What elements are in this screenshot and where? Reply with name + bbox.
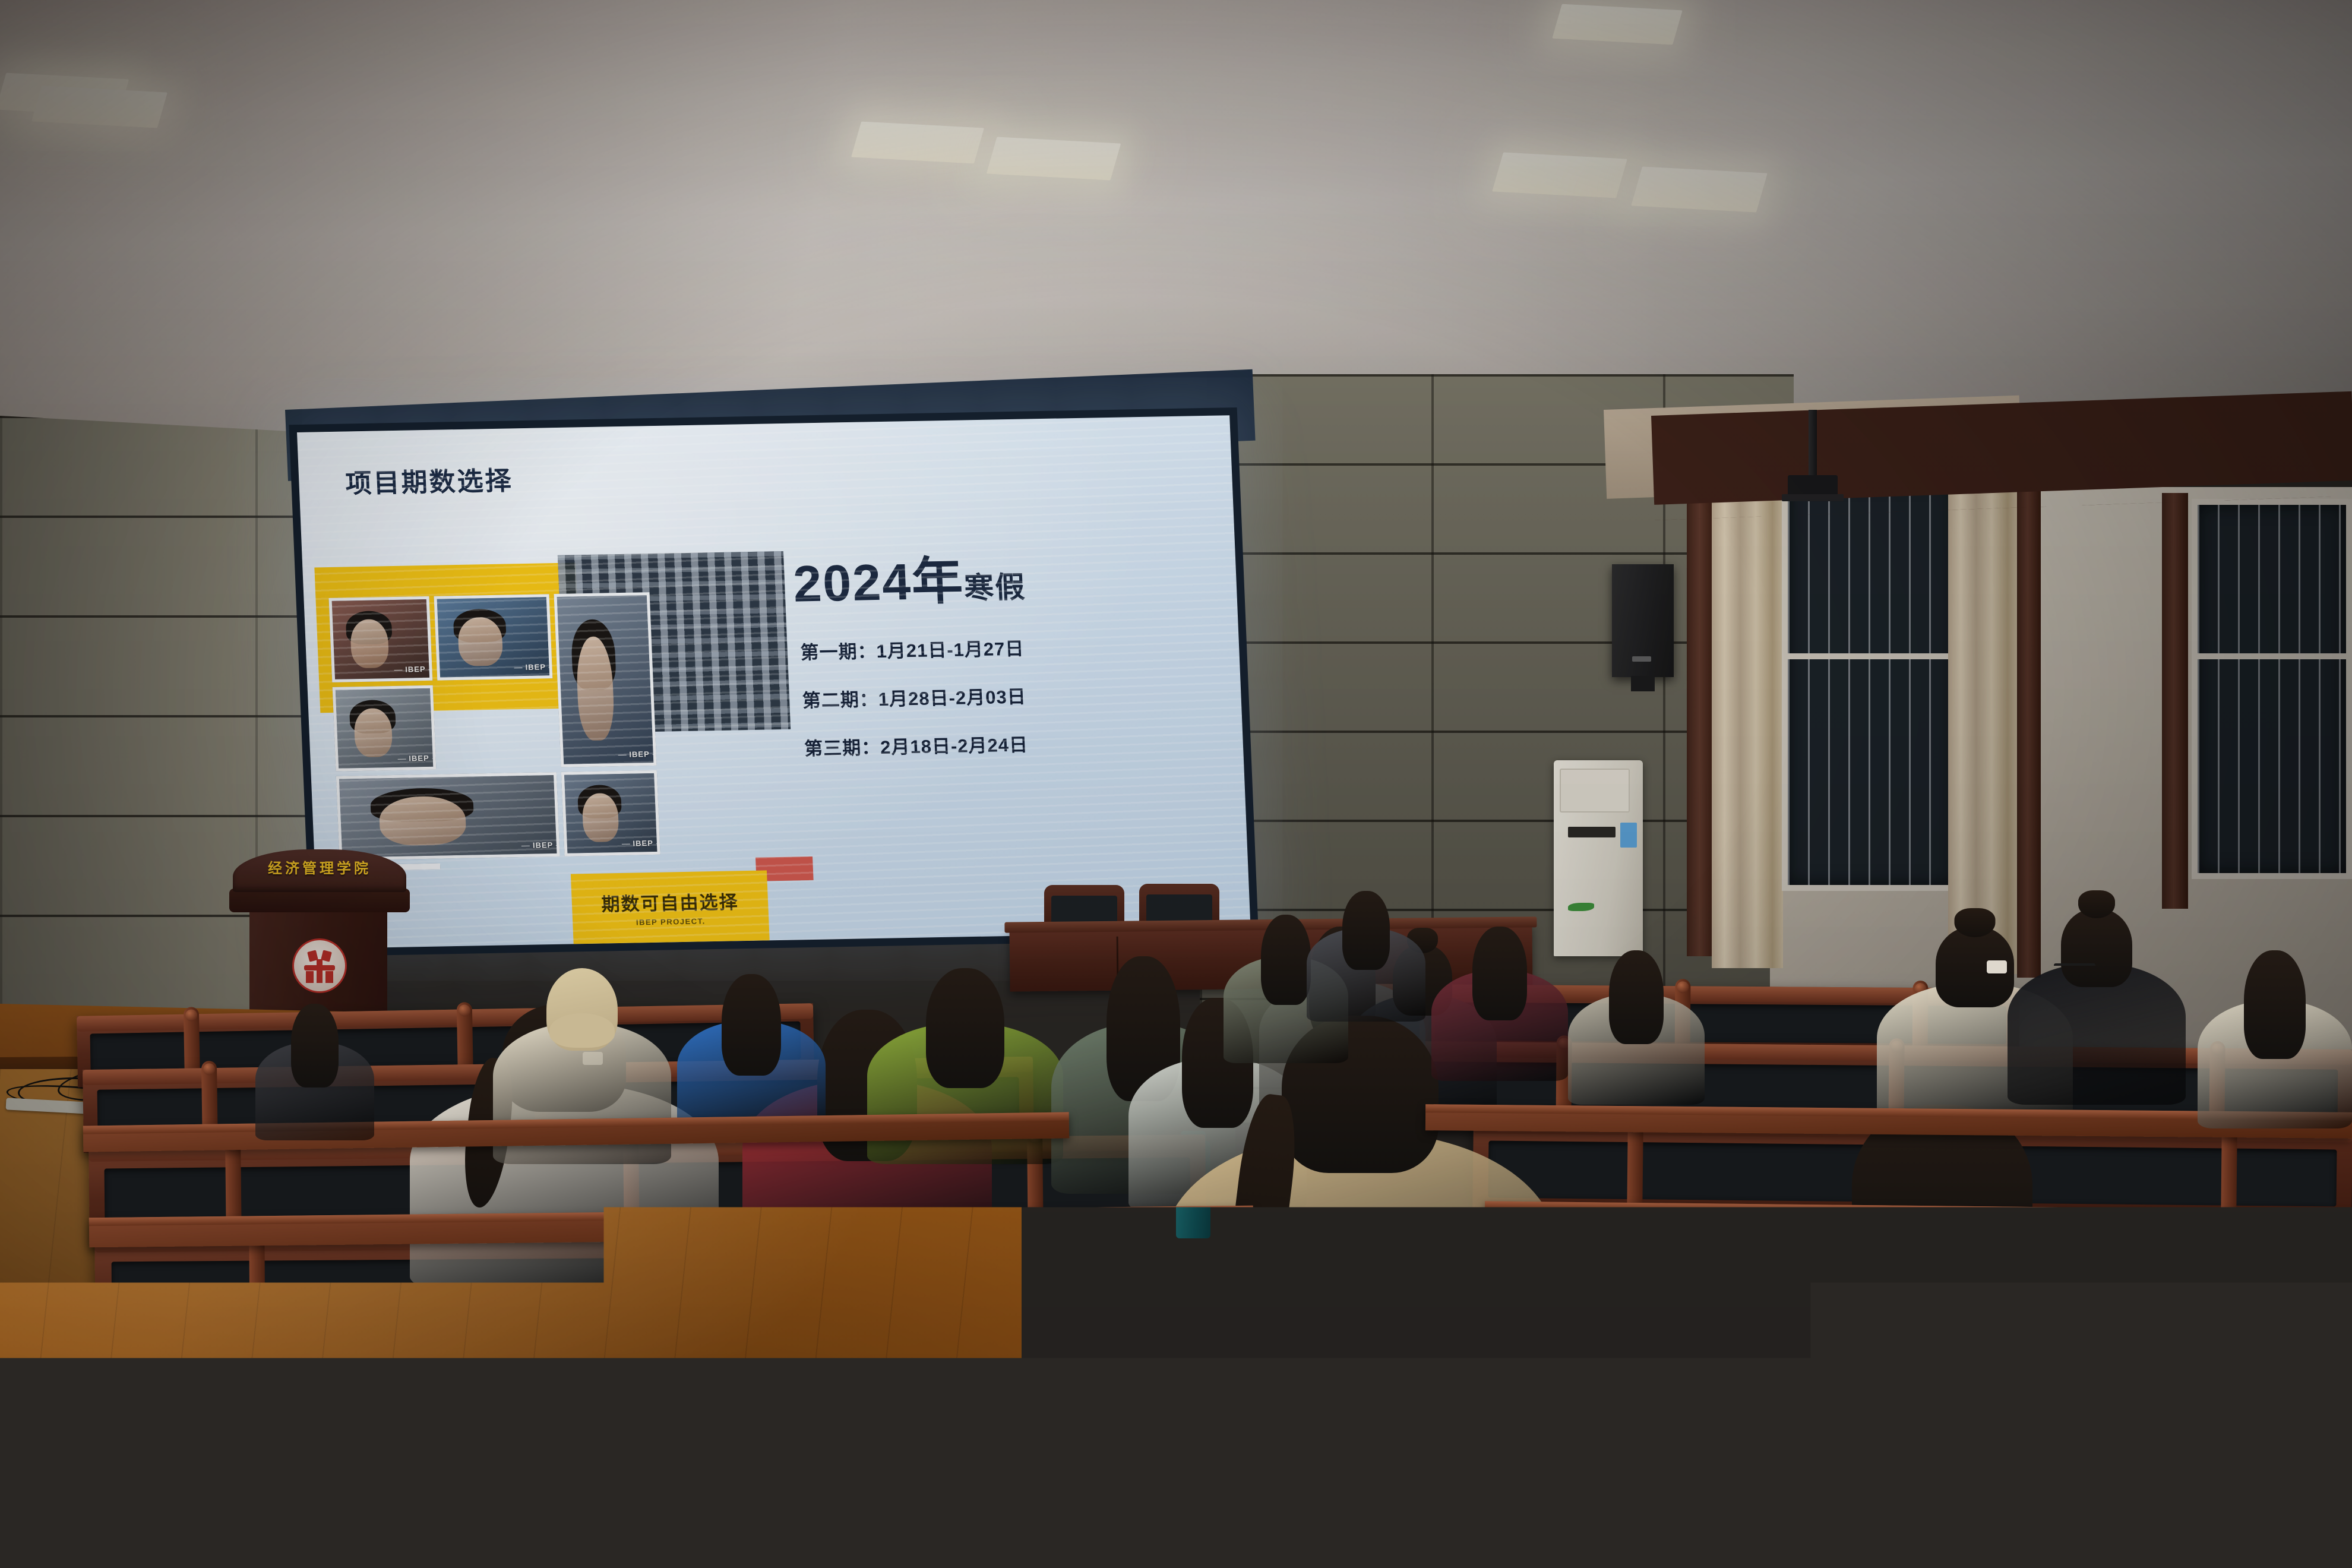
window-right: [2192, 499, 2352, 879]
window-mullion: [1788, 653, 1954, 659]
university-crest-icon: [292, 938, 347, 993]
crest-shape: [317, 959, 323, 983]
student-dark-far-left: [255, 1004, 374, 1140]
person-hair-long: [1342, 891, 1390, 970]
student-pale-far-right: [2198, 950, 2352, 1128]
ac-leaf-decal: [1568, 903, 1594, 911]
cap-brim: [549, 1013, 615, 1048]
screen-surface: 项目期数选择 IBEPIBEPIBEPIBEPIBEPIBEPIBEP 2024…: [297, 415, 1251, 949]
crest-shape: [325, 971, 333, 983]
curtain-dark-right: [2162, 493, 2188, 909]
window-security-bars: [1788, 481, 1954, 885]
photo-watermark: IBEP: [409, 754, 429, 763]
eyeglasses: [2054, 963, 2095, 973]
student-black-hoodie-right: [2008, 909, 2186, 1105]
curtain-dark-mid: [2017, 485, 2041, 978]
crest-shape: [304, 965, 335, 970]
student-maroon-back: [1431, 927, 1568, 1081]
photo-watermark: IBEP: [525, 662, 546, 672]
student-mid-right-pale: [1568, 950, 1705, 1105]
curtain-dark-edge: [1687, 493, 1715, 956]
speaker-badge: [1632, 656, 1651, 662]
screen-scanlines: [297, 415, 1251, 949]
person-hair-long: [291, 1004, 339, 1088]
podium-header: 经济管理学院: [233, 849, 406, 892]
window-curtain-left: [1712, 499, 1783, 968]
window-mullion: [2198, 653, 2346, 659]
projector-plate: [1782, 494, 1844, 501]
student-center-rear: [1307, 891, 1425, 1022]
student-white-tee-right: [1716, 1105, 2168, 1568]
crest-shape: [306, 971, 314, 983]
person-hair-long: [2244, 950, 2306, 1059]
projector-mount-rod: [1809, 410, 1817, 481]
person-hair-bun: [2061, 909, 2132, 987]
person-hair-long: [1261, 915, 1311, 1005]
photo-watermark: IBEP: [629, 750, 650, 759]
hair-clip: [1987, 960, 2007, 973]
ac-energy-label: [1620, 823, 1637, 848]
bench-writing-desk[interactable]: [416, 1440, 2352, 1482]
person-hair-long: [1472, 927, 1527, 1020]
hair-bun: [1955, 908, 1996, 937]
podium-lip: [229, 889, 410, 912]
window-curtain-mid: [1948, 487, 2018, 974]
wall-speaker: [1612, 564, 1674, 677]
person-hair-long: [722, 974, 781, 1076]
person-hair-long: [1609, 950, 1664, 1044]
speaker-mount: [1631, 676, 1655, 691]
person-torso: [1164, 1132, 1556, 1431]
crest-inner: [301, 947, 338, 984]
hair-bun: [2078, 890, 2115, 918]
photo-watermark: IBEP: [405, 665, 426, 674]
ceiling-projector: [1788, 475, 1838, 497]
window-security-bars: [2198, 505, 2346, 873]
photo-watermark: IBEP: [533, 840, 554, 850]
window-left: [1782, 475, 1960, 891]
ac-vent: [1560, 769, 1630, 813]
ac-display: [1568, 827, 1616, 837]
projection-screen[interactable]: 项目期数选择 IBEPIBEPIBEPIBEPIBEPIBEPIBEP 2024…: [297, 415, 1251, 949]
lecture-hall-photo: 项目期数选择 IBEPIBEPIBEPIBEPIBEPIBEPIBEP 2024…: [0, 0, 2352, 1568]
podium-sign-text: 经济管理学院: [233, 856, 406, 877]
person-torso: [1716, 1234, 2168, 1568]
photo-watermark: IBEP: [633, 839, 653, 848]
person-hair-long: [926, 968, 1004, 1088]
